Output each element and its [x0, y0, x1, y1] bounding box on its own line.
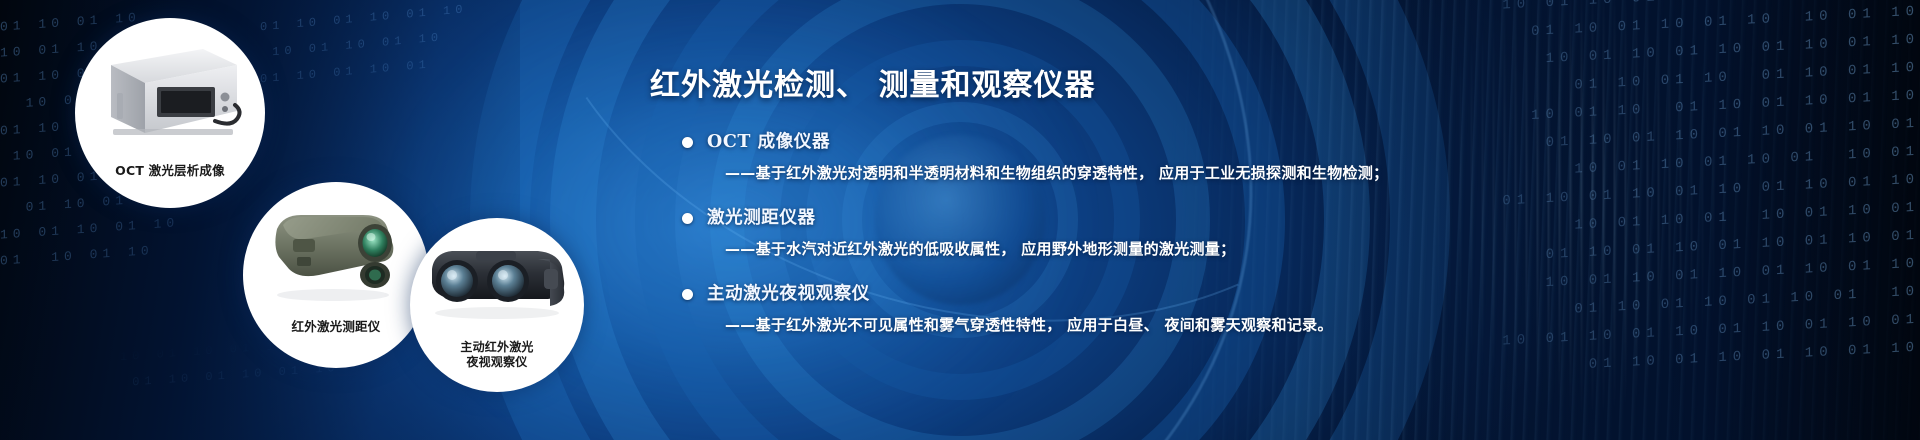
- product-card-oct[interactable]: OCT 激光层析成像: [75, 18, 265, 208]
- bullet-dot-icon: [682, 213, 693, 224]
- oct-device-illustration: [95, 37, 245, 145]
- feature-title-rangefinder: 激光测距仪器: [707, 206, 816, 230]
- feature-title-oct: OCT 成像仪器: [707, 130, 830, 154]
- feature-desc-nightvision: ——基于红外激光不可见属性和雾气穿透性特性， 应用于白昼、 夜间和雾天观察和记录…: [725, 314, 1820, 336]
- feature-list: OCT 成像仪器 ——基于红外激光对透明和半透明材料和生物组织的穿透特性， 应用…: [640, 130, 1820, 336]
- product-card-nightvision[interactable]: 主动红外激光 夜视观察仪: [410, 218, 584, 392]
- feature-head-rangefinder: 激光测距仪器: [682, 206, 1820, 230]
- feature-desc-oct: ——基于红外激光对透明和半透明材料和生物组织的穿透特性， 应用于工业无损探测和生…: [725, 162, 1820, 184]
- feature-desc-rangefinder: ——基于水汽对近红外激光的低吸收属性， 应用野外地形测量的激光测量；: [725, 238, 1820, 260]
- product-caption-nightvision-line1: 主动红外激光: [410, 340, 584, 355]
- laser-rangefinder-photo: [243, 182, 429, 319]
- bullet-dot-icon: [682, 137, 693, 148]
- oct-tomography-device-photo: [75, 18, 265, 163]
- feature-head-nightvision: 主动激光夜视观察仪: [682, 282, 1820, 306]
- product-card-rangefinder[interactable]: 红外激光测距仪: [243, 182, 429, 368]
- feature-item-oct: OCT 成像仪器 ——基于红外激光对透明和半透明材料和生物组织的穿透特性， 应用…: [640, 130, 1820, 184]
- feature-head-oct: OCT 成像仪器: [682, 130, 1820, 154]
- feature-item-rangefinder: 激光测距仪器 ——基于水汽对近红外激光的低吸收属性， 应用野外地形测量的激光测量…: [640, 206, 1820, 260]
- rangefinder-illustration: [263, 199, 409, 303]
- feature-item-nightvision: 主动激光夜视观察仪 ——基于红外激光不可见属性和雾气穿透性特性， 应用于白昼、 …: [640, 282, 1820, 336]
- banner-title: 红外激光检测、 测量和观察仪器: [650, 66, 1820, 106]
- feature-title-nightvision: 主动激光夜视观察仪: [707, 282, 870, 306]
- bullet-dot-icon: [682, 289, 693, 300]
- infrared-laser-product-banner: 01 10 01 10 10 01 10 01 10 01 10 01 10 0…: [0, 0, 1920, 440]
- night-vision-illustration: [422, 233, 572, 325]
- content-block: 红外激光检测、 测量和观察仪器 OCT 成像仪器 ——基于红外激光对透明和半透明…: [640, 66, 1820, 358]
- night-vision-binocular-photo: [410, 218, 584, 340]
